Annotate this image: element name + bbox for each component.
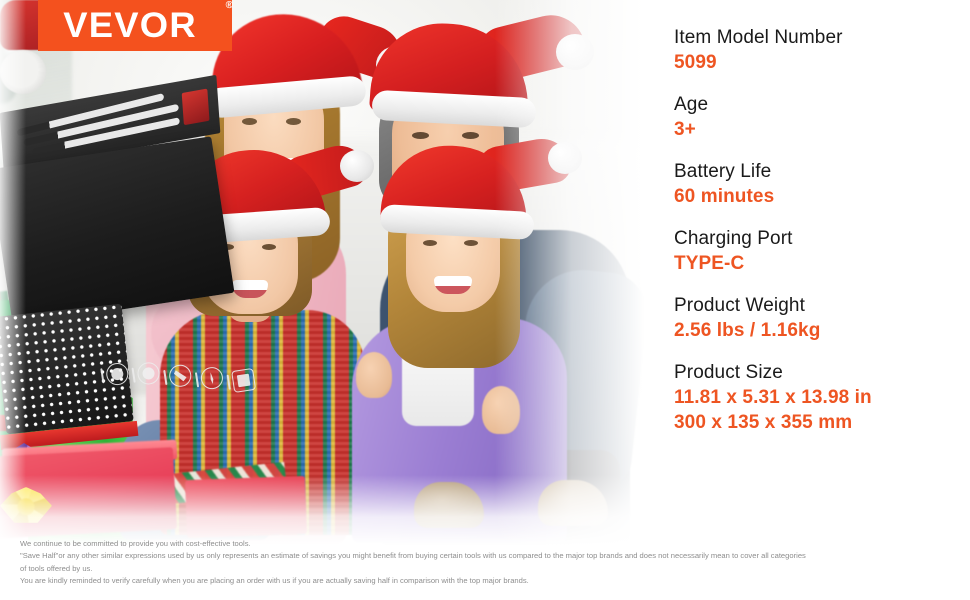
disclaimer-line-3: of tools offered by us. — [20, 563, 960, 575]
spec-label: Age — [674, 93, 964, 117]
spec-row-product-weight: Product Weight 2.56 lbs / 1.16kg — [674, 294, 964, 344]
spec-row-battery-life: Battery Life 60 minutes — [674, 160, 964, 210]
spec-value-secondary: 300 x 135 x 355 mm — [674, 411, 964, 436]
spec-value: TYPE-C — [674, 252, 964, 277]
spec-label: Product Weight — [674, 294, 964, 318]
product-spec-banner: VEVOR ® Item Model Number 5099 Age 3+ Ba… — [0, 0, 970, 600]
feature-icon-3 — [168, 363, 193, 388]
disclaimer-line-4: You are kindly reminded to verify carefu… — [20, 575, 960, 587]
spec-value: 3+ — [674, 118, 964, 143]
boy-hat-pompom — [340, 150, 374, 182]
photo-left-fade — [0, 0, 26, 545]
spec-row-product-size: Product Size 11.81 x 5.31 x 13.98 in 300… — [674, 361, 964, 436]
spec-label: Product Size — [674, 361, 964, 385]
feature-icon-4 — [199, 366, 224, 391]
spec-value: 11.81 x 5.31 x 13.98 in — [674, 386, 964, 411]
spec-row-charging-port: Charging Port TYPE-C — [674, 227, 964, 277]
girl-hand-left — [356, 352, 392, 398]
spec-value: 2.56 lbs / 1.16kg — [674, 319, 964, 344]
spec-value: 5099 — [674, 51, 964, 76]
spec-label: Item Model Number — [674, 26, 964, 50]
lifestyle-photo — [0, 0, 665, 545]
feature-icon-2 — [136, 361, 161, 386]
registered-trademark-icon: ® — [226, 1, 233, 11]
spec-row-item-model-number: Item Model Number 5099 — [674, 26, 964, 76]
black-product-box — [0, 136, 234, 325]
spec-label: Battery Life — [674, 160, 964, 184]
legal-disclaimer: We continue to be committed to provide y… — [20, 538, 960, 587]
spec-value: 60 minutes — [674, 185, 964, 210]
feature-icon-5 — [231, 368, 256, 393]
specifications-list: Item Model Number 5099 Age 3+ Battery Li… — [674, 26, 964, 436]
vevor-logo-text: VEVOR — [63, 8, 207, 43]
spec-row-age: Age 3+ — [674, 93, 964, 143]
disclaimer-line-1: We continue to be committed to provide y… — [20, 538, 960, 550]
feature-icon-1 — [105, 362, 130, 387]
photo-right-fade — [495, 0, 665, 545]
disclaimer-line-2: "Save Half"or any other similar expressi… — [20, 550, 960, 562]
spec-label: Charging Port — [674, 227, 964, 251]
vevor-logo: VEVOR ® — [38, 0, 232, 51]
